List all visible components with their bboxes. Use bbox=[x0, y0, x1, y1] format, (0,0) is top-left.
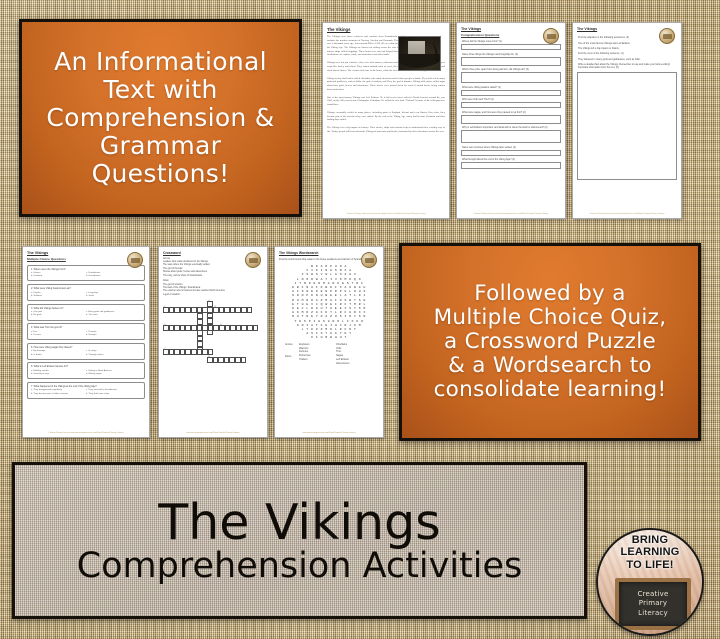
grammar-question-label: They believed in many gods and goddesses… bbox=[578, 58, 677, 61]
activities-line-3: a Crossword Puzzle bbox=[434, 330, 667, 354]
page-footer: Creative Primary Literacy www.teacherspa… bbox=[461, 213, 561, 215]
main-title: The Vikings bbox=[158, 498, 440, 547]
crossword-word-slot[interactable]: 3 bbox=[213, 307, 252, 313]
mc-question: 2. What were Viking boats known as? bbox=[31, 287, 141, 290]
mc-option[interactable]: b. Scotland bbox=[31, 275, 86, 278]
mc-option-column: a. By drawingsb. In books bbox=[31, 350, 86, 356]
mc-option-column: a. One godb. No gods bbox=[31, 311, 86, 317]
grammar-question-label: The Vikings left a big impact on history… bbox=[578, 47, 677, 50]
worksheet-page-informational-text[interactable]: The Vikings The Vikings were brave seafa… bbox=[322, 22, 450, 219]
worksheet-page-grammar-questions[interactable]: The Vikings Find the adjective in the fo… bbox=[572, 22, 682, 219]
title-banner: The Vikings Comprehension Activities bbox=[12, 462, 587, 619]
grammar-question-label: Find the noun in the following sentence.… bbox=[578, 52, 677, 55]
page-inner: The Vikings Multiple Choice Questions 1.… bbox=[27, 251, 145, 433]
worksheet-page-wordsearch[interactable]: The Vikings Wordsearch Find the words be… bbox=[274, 246, 384, 438]
activities-line-1: Followed by a bbox=[434, 282, 667, 306]
mc-options-row: a. One godb. No godsc. Many gods and god… bbox=[31, 311, 141, 317]
page-footer: www.teacherspayteachers.com/Store/Creati… bbox=[163, 432, 263, 434]
crossword-cell[interactable] bbox=[247, 307, 253, 313]
mc-option[interactable]: b. Inventing a map bbox=[31, 373, 86, 376]
crossword-number: 6 bbox=[220, 324, 221, 326]
chalk-line-3: Literacy bbox=[638, 609, 668, 618]
mc-question: 1. Where were the Vikings from? bbox=[31, 268, 141, 271]
answer-box[interactable] bbox=[461, 44, 561, 50]
mc-option[interactable]: d. Writing sagas bbox=[86, 373, 141, 376]
page-footer: Creative Primary Literacy www.teacherspa… bbox=[577, 213, 677, 215]
crossword-word-slot[interactable]: 5 bbox=[163, 325, 219, 331]
seal-icon bbox=[659, 28, 675, 44]
mc-option[interactable]: b. Oceans bbox=[31, 334, 86, 337]
across-label: Across bbox=[285, 343, 299, 347]
answer-box[interactable] bbox=[461, 57, 561, 66]
chalk-line-2: Primary bbox=[639, 599, 667, 608]
mc-question: 5. How were Viking sagas first shared? bbox=[31, 346, 141, 349]
informational-text-callout-panel: An Informational Text with Comprehension… bbox=[19, 19, 302, 217]
activities-line-5: consolidate learning! bbox=[434, 378, 667, 402]
multiple-choice-item[interactable]: 4. What was Thor the god of?a. Fireb. Oc… bbox=[27, 323, 145, 340]
mc-option[interactable]: b. They became part of other societies bbox=[31, 393, 86, 396]
page-inner: The Vikings The Vikings were brave seafa… bbox=[327, 27, 445, 214]
wordsearch-word-list: Across Down ExplorersWarriorsFarmersFish… bbox=[279, 343, 379, 366]
paragraph: One of the most famous Vikings was Leif … bbox=[327, 96, 445, 107]
crossword-number: 1 bbox=[164, 306, 165, 308]
text-page-title: The Vikings bbox=[327, 27, 445, 32]
question-label: Why is Leif Erikson important, and what … bbox=[462, 126, 561, 129]
crossword-number: 3 bbox=[214, 306, 215, 308]
crossword-clue-down: A god of wisdom. bbox=[163, 294, 263, 297]
crossword-number: 2 bbox=[208, 300, 209, 302]
mc-option-column: c. Sailing to North Americad. Writing sa… bbox=[86, 370, 141, 376]
wordsearch-letter-grid[interactable]: B K A R P U O A V I K I N G S M X A X S … bbox=[279, 264, 379, 340]
paragraph: Viking society had leaders called chieft… bbox=[327, 77, 445, 92]
activities-line-2: Multiple Choice Quiz, bbox=[434, 306, 667, 330]
worksheet-page-crossword[interactable]: Crossword AcrossLeaders who made decisio… bbox=[158, 246, 268, 438]
multiple-choice-item[interactable]: 1. Where were the Vikings from?a. Greece… bbox=[27, 265, 145, 282]
crossword-number: 7 bbox=[164, 348, 165, 350]
page-inner: The Vikings Find the adjective in the fo… bbox=[577, 27, 677, 214]
crossword-number: 5 bbox=[164, 324, 165, 326]
crossword-cell[interactable]: 1 bbox=[163, 307, 169, 313]
mc-option[interactable]: d. Through stories bbox=[86, 354, 141, 357]
question-label: What were Viking leaders called? (1) bbox=[462, 86, 561, 89]
mc-option[interactable]: d. Junks bbox=[86, 295, 141, 298]
question-label: Name three things the Vikings used longs… bbox=[462, 53, 561, 56]
grammar-answer-box[interactable] bbox=[577, 72, 677, 180]
logo-line-2: LEARNING bbox=[598, 546, 702, 558]
mc-question: 6. What is Leif Erikson famous for? bbox=[31, 365, 141, 368]
wordsearch-word: Traders bbox=[299, 358, 336, 362]
activities-callout-panel: Followed by a Multiple Choice Quiz, a Cr… bbox=[399, 243, 701, 441]
crossword-cell[interactable]: 8 bbox=[207, 357, 213, 363]
crossword-grid[interactable]: 12345678 bbox=[163, 301, 263, 375]
callout-line-3: Comprehension & bbox=[46, 104, 274, 132]
paragraph: The Vikings left a big impact on history… bbox=[327, 126, 445, 133]
chalk-line-1: Creative bbox=[638, 590, 669, 599]
answer-box[interactable] bbox=[461, 150, 561, 156]
activities-callout-text: Followed by a Multiple Choice Quiz, a Cr… bbox=[428, 278, 673, 406]
crossword-number: 8 bbox=[208, 356, 209, 358]
grammar-question-label: Write a detailed fact about the Vikings.… bbox=[578, 63, 677, 69]
crossword-cell[interactable]: 7 bbox=[163, 349, 169, 355]
question-label: What were sagas, and how were they passe… bbox=[462, 111, 561, 114]
question-list: Where did the Vikings come from? (1)Name… bbox=[461, 40, 561, 169]
worksheet-page-multiple-choice[interactable]: The Vikings Multiple Choice Questions 1.… bbox=[22, 246, 150, 438]
mc-option-column: a. Kayaksb. Galleons bbox=[31, 292, 86, 298]
grammar-question-list: Find the adjective in the following sent… bbox=[577, 36, 677, 180]
crossword-cell[interactable]: 2 bbox=[207, 301, 213, 307]
logo-line-1: BRING bbox=[598, 534, 702, 546]
mc-option[interactable]: d. They built more ships bbox=[86, 393, 141, 396]
logo-tagline: BRING LEARNING TO LIFE! bbox=[598, 534, 702, 571]
multiple-choice-item[interactable]: 3. What did Vikings believe in?a. One go… bbox=[27, 304, 145, 321]
wordsearch-word: Adventurers bbox=[336, 362, 373, 366]
question-label: Who were Odin and Thor? (2) bbox=[462, 98, 561, 101]
crossword-cell[interactable] bbox=[241, 357, 247, 363]
callout-line-2: Text with bbox=[46, 76, 274, 104]
page-footer: www.teacherspayteachers.com/Store/Creati… bbox=[279, 432, 379, 434]
mc-option-column: a. Fireb. Oceans bbox=[31, 331, 86, 337]
crossword-cell[interactable] bbox=[208, 349, 214, 355]
crossword-cell[interactable] bbox=[253, 325, 259, 331]
crossword-number: 4 bbox=[198, 312, 199, 314]
mc-option-column: c. They returned to Scandinaviad. They b… bbox=[86, 389, 141, 395]
mc-options-row: a. Fireb. Oceansc. Thunderd. Sunlight bbox=[31, 331, 141, 337]
mc-option-column: c. Many gods and goddessesd. The stars bbox=[86, 311, 141, 317]
mc-title: The Vikings bbox=[27, 251, 145, 255]
mc-option[interactable]: b. Galleons bbox=[31, 295, 86, 298]
multiple-choice-item[interactable]: 2. What were Viking boats known as?a. Ka… bbox=[27, 284, 145, 301]
worksheet-page-comprehension-questions[interactable]: The Vikings Comprehension Questions Wher… bbox=[456, 22, 566, 219]
mc-options-row: a. Building castlesb. Inventing a mapc. … bbox=[31, 370, 141, 376]
question-label: Which three jobs, apart from being warri… bbox=[462, 68, 561, 71]
mc-option-column: c. Scandinaviad. Scandinavia bbox=[86, 272, 141, 278]
page-inner: The Vikings Comprehension Questions Wher… bbox=[461, 27, 561, 214]
page-inner: Crossword AcrossLeaders who made decisio… bbox=[163, 251, 263, 433]
mc-option-column: a. Building castlesb. Inventing a map bbox=[31, 370, 86, 376]
crossword-cell[interactable]: 6 bbox=[219, 325, 225, 331]
mc-option-column: c. In songsd. Through stories bbox=[86, 350, 141, 356]
chalkboard-icon: Creative Primary Literacy bbox=[615, 578, 691, 630]
crossword-word-slot[interactable]: 8 bbox=[207, 357, 246, 363]
answer-box[interactable] bbox=[461, 102, 561, 108]
mc-question: 3. What did Vikings believe in? bbox=[31, 307, 141, 310]
viking-longship-image bbox=[398, 36, 441, 71]
seal-icon bbox=[543, 28, 559, 44]
seal-icon bbox=[245, 252, 261, 268]
logo-line-3: TO LIFE! bbox=[598, 559, 702, 571]
crossword-cell[interactable]: 4 bbox=[197, 313, 203, 319]
prow-shape bbox=[427, 42, 438, 62]
page-footer: Creative Primary Literacy www.teacherspa… bbox=[27, 432, 145, 434]
mc-options-row: a. Kayaksb. Galleonsc. Longshipsd. Junks bbox=[31, 292, 141, 298]
mc-option-column: a. They disappeared completelyb. They be… bbox=[31, 389, 86, 395]
wordsearch-words-column-1: ExplorersWarriorsFarmersFishermenTraders bbox=[299, 343, 336, 366]
mc-options-row: a. They disappeared completelyb. They be… bbox=[31, 389, 141, 395]
mc-option-column: c. Longshipsd. Junks bbox=[86, 292, 141, 298]
seal-icon bbox=[127, 252, 143, 268]
main-subtitle: Comprehension Activities bbox=[77, 549, 523, 584]
answer-box[interactable] bbox=[461, 72, 561, 83]
crossword-cell[interactable]: 3 bbox=[213, 307, 219, 313]
mc-question: 7. What happened to the Vikings at the e… bbox=[31, 385, 141, 388]
mc-options-row: a. By drawingsb. In booksc. In songsd. T… bbox=[31, 350, 141, 356]
answer-box[interactable] bbox=[461, 90, 561, 96]
multiple-choice-list: 1. Where were the Vikings from?a. Greece… bbox=[27, 265, 145, 399]
paragraph: The Vikings were brave seafarers and war… bbox=[327, 35, 405, 57]
multiple-choice-item[interactable]: 5. How were Viking sagas first shared?a.… bbox=[27, 343, 145, 360]
brand-logo-badge: BRING LEARNING TO LIFE! Creative Primary… bbox=[596, 528, 704, 636]
crossword-word-slot[interactable]: 4 bbox=[197, 313, 203, 352]
callout-line-4: Grammar bbox=[46, 132, 274, 160]
page-inner: The Vikings Wordsearch Find the words be… bbox=[279, 251, 379, 433]
question-label: What brought about the end of the Viking… bbox=[462, 158, 561, 161]
crossword-word-slot[interactable]: 6 bbox=[219, 325, 258, 331]
multiple-choice-item[interactable]: 7. What happened to the Vikings at the e… bbox=[27, 382, 145, 399]
mc-options-row: a. Greeceb. Scotlandc. Scandinaviad. Sca… bbox=[31, 272, 141, 278]
callout-line-5: Questions! bbox=[46, 160, 274, 188]
wordsearch-words-column-2: ChieftainsOdinThorSagasLeif EriksonAdven… bbox=[336, 343, 373, 366]
informational-text-callout-text: An Informational Text with Comprehension… bbox=[40, 44, 280, 192]
crossword-word-slot[interactable]: 1 bbox=[163, 307, 208, 313]
mc-option[interactable]: b. In books bbox=[31, 354, 86, 357]
seal-icon bbox=[361, 252, 377, 268]
mc-option[interactable]: b. No gods bbox=[31, 314, 86, 317]
mc-question: 4. What was Thor the god of? bbox=[31, 326, 141, 329]
down-label: Down bbox=[285, 355, 299, 359]
crossword-cell[interactable]: 5 bbox=[163, 325, 169, 331]
paragraph: Vikings eventually settled in many place… bbox=[327, 111, 445, 122]
mc-option-column: a. Greeceb. Scotland bbox=[31, 272, 86, 278]
callout-line-1: An Informational bbox=[46, 48, 274, 76]
mc-option[interactable]: d. Sunlight bbox=[86, 334, 141, 337]
activities-line-4: & a Wordsearch to bbox=[434, 354, 667, 378]
answer-box[interactable] bbox=[461, 115, 561, 124]
question-label: Name two countries where Vikings later s… bbox=[462, 146, 561, 149]
mc-option[interactable]: d. Scandinavia bbox=[86, 275, 141, 278]
page-footer: Creative Primary Literacy www.teacherspa… bbox=[327, 213, 445, 215]
answer-box[interactable] bbox=[461, 162, 561, 169]
mc-option-column: c. Thunderd. Sunlight bbox=[86, 331, 141, 337]
answer-box[interactable] bbox=[461, 130, 561, 143]
crossword-word-slot[interactable]: 7 bbox=[163, 349, 213, 355]
mc-option[interactable]: d. The stars bbox=[86, 314, 141, 317]
multiple-choice-item[interactable]: 6. What is Leif Erikson famous for?a. Bu… bbox=[27, 362, 145, 379]
